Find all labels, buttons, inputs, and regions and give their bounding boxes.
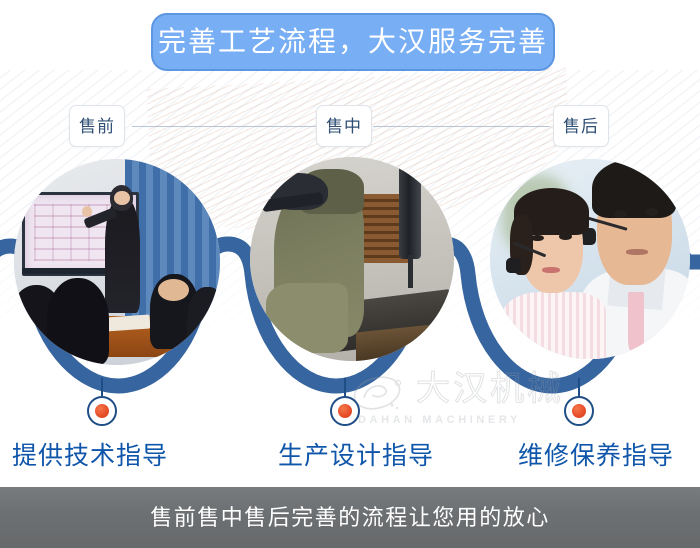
caption-presale: 提供技术指导	[12, 444, 168, 469]
photo1-attendee-2	[47, 278, 109, 365]
photo2-drill-head	[399, 165, 421, 259]
step-chip-label-2: 售中	[326, 118, 362, 135]
photo1-presenter-hand	[82, 206, 92, 216]
photo3-agent-female	[502, 191, 606, 359]
caption-aftersale: 维修保养指导	[518, 444, 674, 469]
marker-dot-aftersale	[564, 396, 594, 426]
banner-title-text: 完善工艺流程，大汉服务完善	[158, 28, 548, 56]
promo-graphic: 完善工艺流程，大汉服务完善 售前 售中 售后	[0, 0, 700, 548]
step-chip-presale: 售前	[69, 105, 125, 147]
step-connector-rule-2	[373, 126, 550, 127]
photo-presale	[14, 159, 220, 365]
photo-insale	[250, 157, 454, 361]
step-chip-label-3: 售后	[563, 118, 599, 135]
step-chip-label-1: 售前	[79, 118, 115, 135]
title-banner: 完善工艺流程，大汉服务完善	[151, 13, 555, 71]
step-chip-aftersale: 售后	[553, 105, 609, 147]
footer-text: 售前售中售后完善的流程让您用的放心	[150, 507, 550, 529]
photo2-worker-leg	[266, 283, 348, 352]
marker-dot-presale	[87, 396, 117, 426]
marker-dot-insale	[330, 396, 360, 426]
photo1-attendee-4	[187, 287, 220, 357]
photo1-notebook	[104, 314, 150, 332]
step-chip-insale: 售中	[316, 105, 372, 147]
photo-aftersale	[490, 159, 690, 359]
footer-bar: 售前售中售后完善的流程让您用的放心	[0, 487, 700, 548]
caption-insale: 生产设计指导	[278, 444, 434, 469]
watermark-english-text: DAHAN MACHINERY	[358, 414, 521, 426]
step-connector-rule-1	[132, 126, 318, 127]
photo2-drill-bit	[408, 255, 413, 288]
